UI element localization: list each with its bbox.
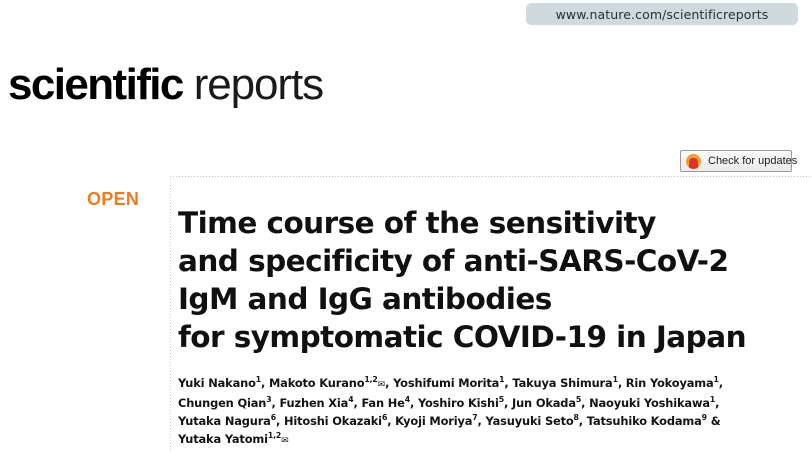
masthead-word-reports: reports — [194, 60, 323, 110]
author-line: Chungen Qian3, Fuzhen Xia4, Fan He4, Yos… — [178, 394, 808, 412]
crossmark-icon — [686, 154, 701, 169]
url-text: www.nature.com/scientificreports — [556, 7, 769, 22]
title-line: and specificity of anti-SARS-CoV-2 — [178, 242, 808, 280]
dotted-rule-horizontal — [170, 176, 812, 177]
masthead-word-scientific: scientific — [8, 60, 183, 110]
check-for-updates-label: Check for updates — [708, 155, 797, 167]
title-line: for symptomatic COVID-19 in Japan — [178, 318, 808, 356]
author-line: Yuki Nakano1, Makoto Kurano1,2✉, Yoshifu… — [178, 374, 808, 394]
author-list: Yuki Nakano1, Makoto Kurano1,2✉, Yoshifu… — [178, 374, 808, 450]
author-line: Yutaka Nagura6, Hitoshi Okazaki6, Kyoji … — [178, 412, 808, 430]
page-title: Time course of the sensitivity and speci… — [178, 204, 808, 357]
title-line: Time course of the sensitivity — [178, 204, 808, 242]
title-line: IgM and IgG antibodies — [178, 280, 808, 318]
author-line: Yutaka Yatomi1,2✉ — [178, 430, 808, 450]
dotted-rule-vertical — [170, 179, 171, 452]
check-for-updates-button[interactable]: Check for updates — [680, 150, 792, 172]
journal-masthead: scientific reports — [8, 60, 323, 110]
browser-url-bar[interactable]: www.nature.com/scientificreports — [526, 3, 798, 25]
open-access-label: OPEN — [87, 189, 139, 210]
